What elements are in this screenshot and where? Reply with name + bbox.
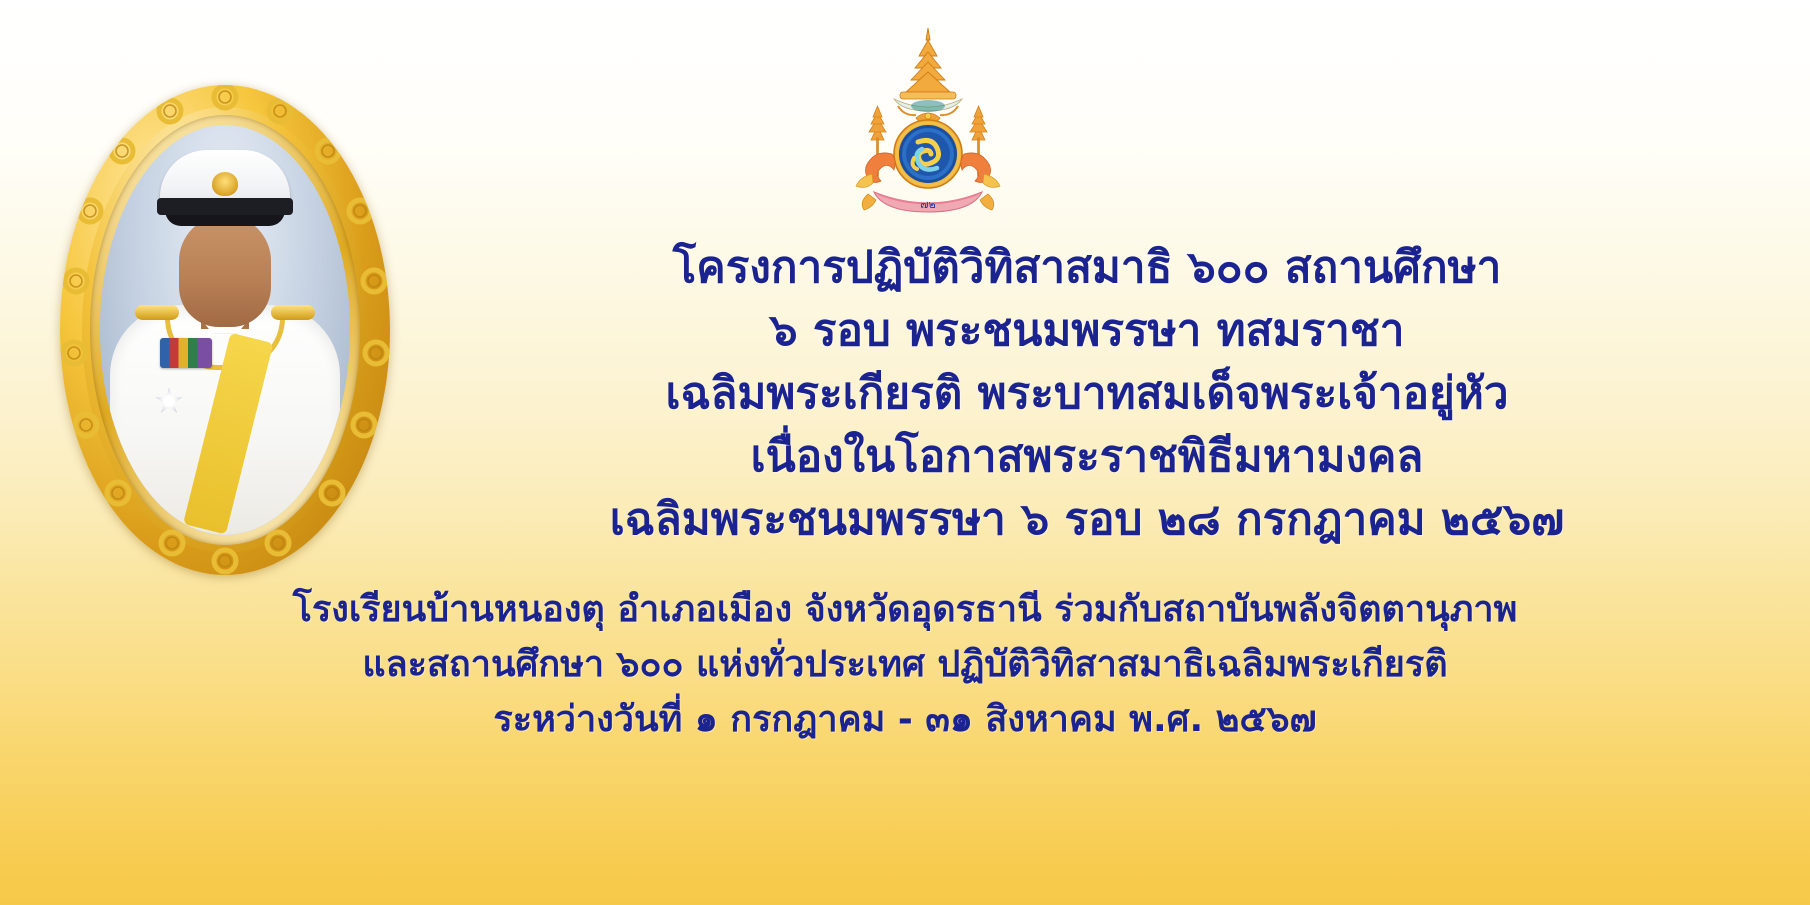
title-line-2: ๖ รอบ พระชนมพรรษา ทสมราชา xyxy=(392,299,1782,362)
main-title: โครงการปฏิบัติวิทิสาสมาธิ ๖๐๐ สถานศึกษา … xyxy=(392,236,1782,551)
subtitle-line-2: และสถานศึกษา ๖๐๐ แห่งทั่วประเทศ ปฏิบัติว… xyxy=(0,637,1810,692)
portrait-photo xyxy=(100,125,350,535)
cap-band xyxy=(157,198,293,215)
title-line-3: เฉลิมพระเกียรติ พระบาทสมเด็จพระเจ้าอยู่ห… xyxy=(392,362,1782,425)
cap-badge-icon xyxy=(212,172,238,196)
subtitle-line-3: ระหว่างวันที่ ๑ กรกฎาคม - ๓๑ สิงหาคม พ.ศ… xyxy=(0,692,1810,747)
title-line-1: โครงการปฏิบัติวิทิสาสมาธิ ๖๐๐ สถานศึกษา xyxy=(392,236,1782,299)
royal-cypher-emblem-icon: ๗๒ xyxy=(838,22,1018,232)
portrait-epaulette-left xyxy=(135,305,179,320)
royal-commemorative-banner: ๗๒ โครงการปฏิบัติวิทิสาสมาธิ ๖๐๐ สถานศึก… xyxy=(0,0,1810,905)
portrait-medal-ribbons xyxy=(160,338,212,368)
portrait-naval-cap xyxy=(160,150,290,212)
portrait-face xyxy=(179,215,271,327)
title-line-4: เนื่องในโอกาสพระราชพิธีมหามงคล xyxy=(392,425,1782,488)
portrait-epaulette-right xyxy=(271,305,315,320)
title-line-5: เฉลิมพระชนมพรรษา ๖ รอบ ๒๘ กรกฎาคม ๒๕๖๗ xyxy=(392,488,1782,551)
subtitle-line-1: โรงเรียนบ้านหนองตุ อำเภอเมือง จังหวัดอุด… xyxy=(0,582,1810,637)
organizer-block: โรงเรียนบ้านหนองตุ อำเภอเมือง จังหวัดอุด… xyxy=(0,582,1810,747)
king-portrait xyxy=(60,85,390,575)
svg-text:๗๒: ๗๒ xyxy=(920,198,936,211)
